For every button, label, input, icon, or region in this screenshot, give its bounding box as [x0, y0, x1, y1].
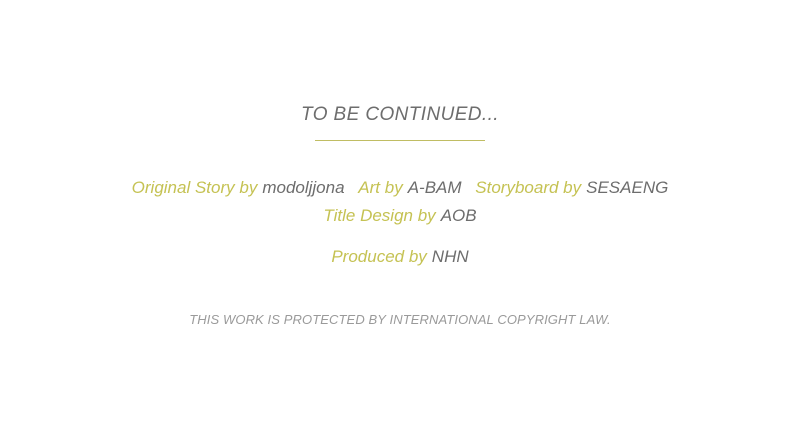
credit-entry-original-story: Original Story bymodoljjona	[132, 178, 350, 197]
credit-role-original-story: Original Story by	[132, 178, 258, 197]
credit-name-storyboard: SESAENG	[586, 178, 668, 197]
credit-line-produced-by: Produced byNHN	[0, 243, 800, 271]
credits-block: Original Story bymodoljjona Art byA-BAM …	[0, 174, 800, 271]
credit-role-art: Art by	[358, 178, 402, 197]
credit-name-art: A-BAM	[408, 178, 462, 197]
credit-role-title-design: Title Design by	[323, 206, 435, 225]
divider-rule	[315, 140, 485, 141]
credit-entry-storyboard: Storyboard bySESAENG	[475, 178, 668, 197]
copyright-block: THIS WORK IS PROTECTED BY INTERNATIONAL …	[0, 312, 800, 327]
credit-name-produced-by: NHN	[432, 247, 469, 266]
credit-name-original-story: modoljjona	[262, 178, 344, 197]
credit-line-title-design: Title Design byAOB	[0, 202, 800, 230]
webtoon-end-card: TO BE CONTINUED... Original Story bymodo…	[0, 0, 800, 426]
credit-name-title-design: AOB	[441, 206, 477, 225]
credit-entry-art: Art byA-BAM	[358, 178, 466, 197]
copyright-notice: THIS WORK IS PROTECTED BY INTERNATIONAL …	[0, 312, 800, 327]
to-be-continued-text: TO BE CONTINUED...	[0, 104, 800, 126]
credit-role-produced-by: Produced by	[331, 247, 426, 266]
credit-entry-title-design: Title Design byAOB	[323, 206, 476, 225]
to-be-continued-block: TO BE CONTINUED...	[0, 104, 800, 141]
credit-line-primary: Original Story bymodoljjona Art byA-BAM …	[0, 174, 800, 202]
credit-entry-produced-by: Produced byNHN	[331, 247, 468, 266]
credit-role-storyboard: Storyboard by	[475, 178, 581, 197]
